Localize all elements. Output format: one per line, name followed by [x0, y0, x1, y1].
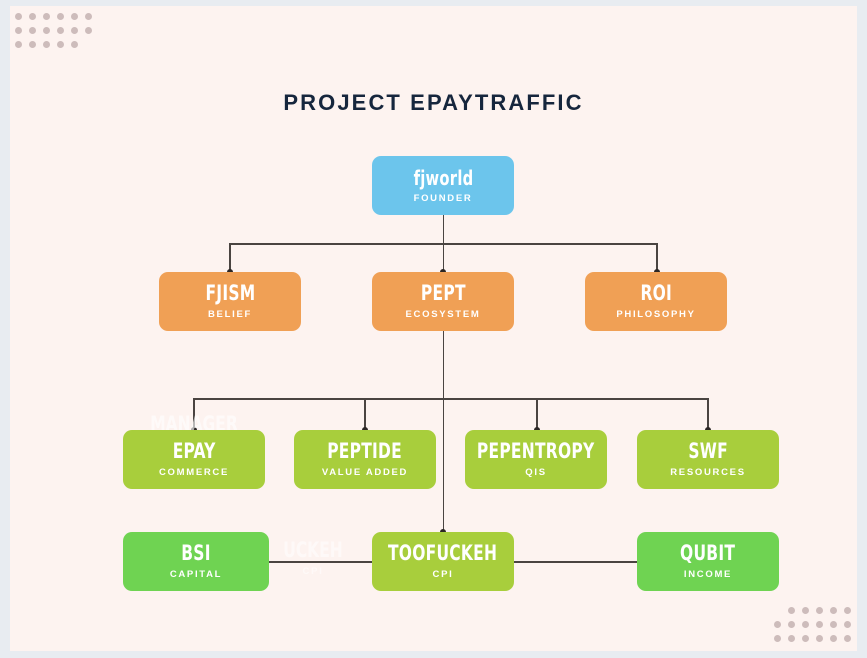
connector-drop-pepentropy — [536, 398, 538, 430]
decor-dot — [29, 13, 36, 20]
node-swf[interactable]: SWF RESOURCES — [637, 430, 779, 489]
connector-drop-epay — [193, 398, 195, 430]
connector-bsi-toofuckeh — [269, 561, 373, 563]
dot-grid-top-left — [15, 13, 92, 48]
decor-dot — [29, 41, 36, 48]
decor-dot-blank — [85, 41, 92, 48]
connector-root-trunk — [443, 215, 445, 244]
node-title: QUBIT — [680, 543, 735, 564]
decor-dot — [802, 621, 809, 628]
node-subtitle: PHILOSOPHY — [616, 310, 695, 320]
connector-toofuckeh-qubit — [514, 561, 638, 563]
ghost-label-toofuckeh: UCKEH CPI — [253, 540, 373, 577]
decor-dot — [57, 41, 64, 48]
decor-dot — [830, 635, 837, 642]
decor-dot — [43, 27, 50, 34]
connector-pept-trunk — [443, 331, 445, 532]
node-bsi[interactable]: BSI CAPITAL — [123, 532, 269, 591]
decor-dot — [774, 621, 781, 628]
decor-dot — [57, 13, 64, 20]
node-roi[interactable]: ROI PHILOSOPHY — [585, 272, 727, 331]
node-pept[interactable]: PEPT ECOSYSTEM — [372, 272, 514, 331]
dot-grid-bottom-right — [774, 607, 851, 642]
node-title: PEPENTROPY — [477, 441, 595, 462]
node-title: BSI — [181, 543, 210, 564]
decor-dot — [802, 635, 809, 642]
connector-bus-level3 — [193, 398, 708, 400]
node-fjism[interactable]: FJISM BELIEF — [159, 272, 301, 331]
node-title: PEPTIDE — [328, 441, 403, 462]
decor-dot — [830, 621, 837, 628]
decor-dot — [788, 635, 795, 642]
decor-dot — [788, 607, 795, 614]
decor-dot-blank — [774, 607, 781, 614]
ghost-title: UCKEH — [264, 540, 362, 561]
decor-dot — [844, 607, 851, 614]
decor-dot — [57, 27, 64, 34]
decor-dot — [802, 607, 809, 614]
connector-drop-peptide — [364, 398, 366, 430]
decor-dot — [844, 621, 851, 628]
decor-dot — [43, 13, 50, 20]
connector-drop-roi — [656, 243, 658, 272]
decor-dot — [71, 13, 78, 20]
decor-dot — [788, 621, 795, 628]
node-subtitle: QIS — [525, 468, 546, 478]
node-subtitle: COMMERCE — [159, 468, 229, 478]
node-title: TOOFUCKEH — [388, 543, 497, 564]
node-fjworld[interactable]: fjworld FOUNDER — [372, 156, 514, 215]
decor-dot — [43, 41, 50, 48]
page-title: PROJECT EPAYTRAFFIC — [10, 90, 857, 116]
decor-dot — [15, 13, 22, 20]
node-subtitle: CAPITAL — [170, 570, 222, 580]
connector-drop-swf — [707, 398, 709, 430]
node-title: PEPT — [421, 283, 466, 304]
node-title: SWF — [688, 441, 728, 462]
decor-dot — [85, 13, 92, 20]
decor-dot — [774, 635, 781, 642]
ghost-subtitle: CPI — [253, 567, 373, 577]
node-title: EPAY — [173, 441, 216, 462]
decor-dot — [830, 607, 837, 614]
node-subtitle: ECOSYSTEM — [406, 310, 481, 320]
node-subtitle: FOUNDER — [414, 194, 473, 204]
decor-dot — [844, 635, 851, 642]
node-subtitle: INCOME — [684, 570, 732, 580]
node-title: FJISM — [205, 283, 255, 304]
decor-dot — [85, 27, 92, 34]
decor-dot — [15, 27, 22, 34]
connector-drop-pept — [443, 243, 445, 272]
node-subtitle: BELIEF — [208, 310, 252, 320]
decor-dot — [71, 41, 78, 48]
decor-dot — [816, 621, 823, 628]
slide-canvas: PROJECT EPAYTRAFFIC MANAGER UCKEH CPI fj… — [10, 6, 857, 651]
node-peptide[interactable]: PEPTIDE VALUE ADDED — [294, 430, 436, 489]
decor-dot — [816, 607, 823, 614]
decor-dot — [816, 635, 823, 642]
decor-dot — [29, 27, 36, 34]
node-qubit[interactable]: QUBIT INCOME — [637, 532, 779, 591]
node-toofuckeh[interactable]: TOOFUCKEH CPI — [372, 532, 514, 591]
node-subtitle: RESOURCES — [670, 468, 745, 478]
node-title: ROI — [640, 283, 672, 304]
connector-drop-fjism — [229, 243, 231, 272]
node-pepentropy[interactable]: PEPENTROPY QIS — [465, 430, 607, 489]
decor-dot — [71, 27, 78, 34]
node-epay[interactable]: EPAY COMMERCE — [123, 430, 265, 489]
node-subtitle: VALUE ADDED — [322, 468, 408, 478]
node-title: fjworld — [413, 168, 473, 188]
decor-dot — [15, 41, 22, 48]
node-subtitle: CPI — [433, 570, 454, 580]
